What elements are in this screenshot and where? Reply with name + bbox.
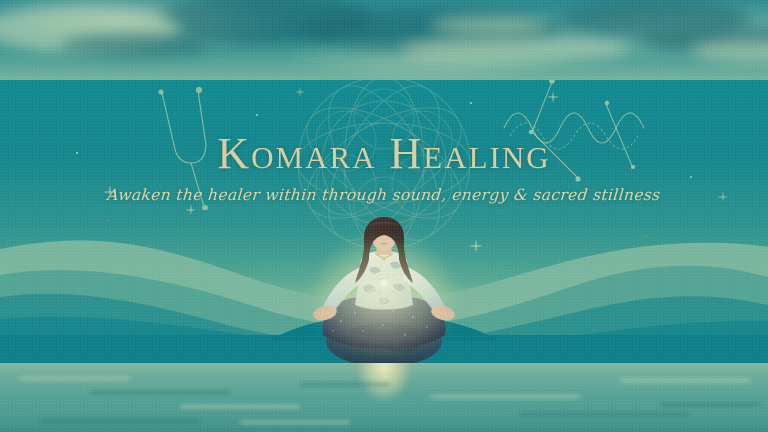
sparkle-star — [296, 88, 304, 96]
star-dot — [256, 114, 258, 116]
star-dot — [470, 102, 472, 104]
water-photo-band — [0, 363, 768, 432]
page-title: Komara Healing — [0, 128, 768, 179]
illustrated-banner: Komara Healing Awaken the healer within … — [0, 80, 768, 363]
water-light-reflection — [345, 363, 423, 432]
aura-glow — [279, 194, 489, 363]
banner-canvas: Komara Healing Awaken the healer within … — [0, 0, 768, 432]
tagline: Awaken the healer within through sound, … — [0, 186, 768, 204]
sky-photo-band — [0, 0, 768, 80]
meditating-figure — [289, 213, 479, 363]
sparkle-star — [548, 92, 558, 102]
